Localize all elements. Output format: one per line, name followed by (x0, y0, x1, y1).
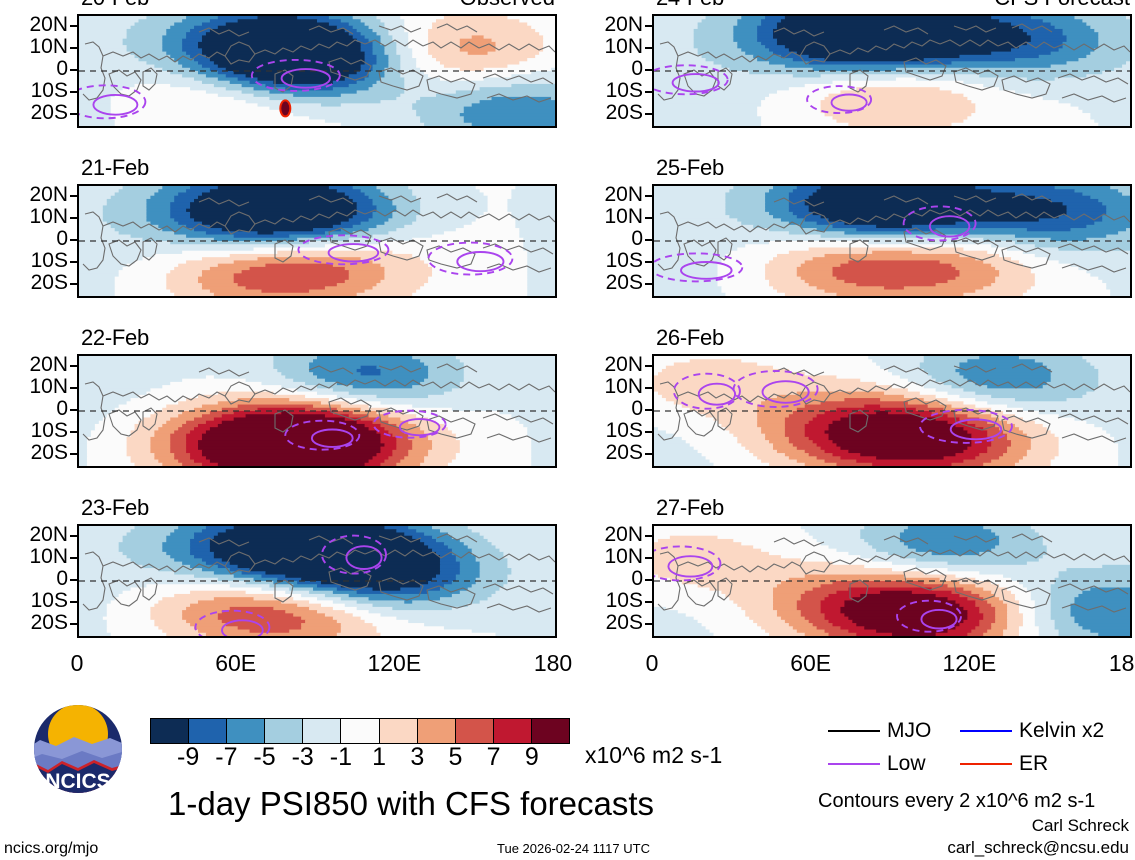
map-panel: 22-Feb (77, 354, 557, 468)
y-tick-label: 20N (604, 184, 643, 205)
legend-item: Low (828, 747, 948, 780)
colorbar-tick-label: -9 (177, 744, 199, 770)
contour-legend: MJOKelvin x2LowER (828, 714, 1128, 780)
legend-line-swatch (828, 730, 880, 732)
generation-timestamp: Tue 2026-02-24 1117 UTC (497, 841, 650, 856)
colorbar-swatch (418, 719, 456, 743)
y-tick-label: 10N (29, 376, 68, 397)
panel-column-forecast: 24-FebCFS Forecast20N10N010S20S25-Feb20N… (575, 0, 1135, 690)
y-tick-label: 0 (631, 58, 643, 79)
column-header: Observed (460, 0, 555, 9)
map-panel: 20-FebObserved (77, 14, 557, 128)
panel-plot-area (77, 14, 557, 128)
colorbar-ticklabels: -9-7-5-3-113579 (150, 744, 570, 770)
map-panel: 21-Feb (77, 184, 557, 298)
colorbar-swatch (532, 719, 569, 743)
y-tick-label: 0 (631, 228, 643, 249)
colorbar-swatch (265, 719, 303, 743)
website-label: ncics.org/mjo (4, 840, 98, 858)
y-tick-label: 0 (56, 398, 68, 419)
colorbar-tick-label: -3 (292, 744, 314, 770)
y-tick-label: 10S (31, 250, 68, 271)
legend-label: Kelvin x2 (1019, 720, 1104, 741)
y-tick-label: 20N (604, 14, 643, 35)
legend-item: ER (960, 747, 1080, 780)
x-tick-label: 120E (367, 650, 421, 676)
legend-line-swatch (828, 763, 880, 765)
y-tick-label: 20N (604, 354, 643, 375)
x-tick-label: 0 (71, 650, 84, 676)
colorbar-tick-label: -5 (253, 744, 275, 770)
y-tick-label: 10S (606, 590, 643, 611)
y-axis-labels: 20N10N010S20S (0, 524, 72, 634)
y-tick-label: 10S (31, 420, 68, 441)
colorbar-swatch (380, 719, 418, 743)
colorbar-swatch (189, 719, 227, 743)
colorbar-tick-label: 7 (487, 744, 501, 770)
panel-column-observed: 20-FebObserved20N10N010S20S21-Feb20N10N0… (0, 0, 560, 690)
y-tick-label: 10N (604, 546, 643, 567)
legend-line-swatch (960, 730, 1012, 732)
y-tick-label: 10S (606, 420, 643, 441)
y-tick-label: 20S (31, 102, 68, 123)
colorbar-tick-label: 3 (410, 744, 424, 770)
y-tick-label: 10S (31, 590, 68, 611)
contour-interval-note: Contours every 2 x10^6 m2 s-1 (818, 790, 1095, 813)
figure-title: 1-day PSI850 with CFS forecasts (168, 786, 654, 822)
colorbar-swatches (150, 718, 570, 744)
legend-item: MJO (828, 714, 948, 747)
panel-date-label: 26-Feb (656, 327, 724, 349)
y-tick-label: 20S (31, 612, 68, 633)
panel-grid: 20-FebObserved20N10N010S20S21-Feb20N10N0… (0, 0, 1135, 690)
legend-label: Low (887, 753, 926, 774)
y-tick-label: 10S (606, 250, 643, 271)
y-axis-labels: 20N10N010S20S (575, 184, 647, 294)
colorbar: -9-7-5-3-113579 (150, 718, 570, 770)
colorbar-swatch (341, 719, 379, 743)
x-axis-labels: 060E120E180 (652, 650, 1132, 678)
colorbar-swatch (456, 719, 494, 743)
panel-date-label: 20-Feb (81, 0, 149, 9)
panel-plot-area (652, 184, 1132, 298)
y-tick-label: 0 (56, 58, 68, 79)
colorbar-swatch (227, 719, 265, 743)
panel-date-label: 23-Feb (81, 497, 149, 519)
y-tick-label: 20N (604, 524, 643, 545)
colorbar-tick-label: 1 (372, 744, 386, 770)
logo-wordmark: NCICS (45, 770, 110, 793)
y-tick-label: 20S (31, 442, 68, 463)
y-tick-label: 20N (29, 524, 68, 545)
y-tick-label: 10N (604, 376, 643, 397)
y-tick-label: 20S (606, 442, 643, 463)
panel-date-label: 25-Feb (656, 157, 724, 179)
colorbar-swatch (494, 719, 532, 743)
author-email: carl_schreck@ncsu.edu (947, 838, 1129, 858)
column-header: CFS Forecast (994, 0, 1130, 9)
y-tick-label: 20S (606, 612, 643, 633)
map-panel: 26-Feb (652, 354, 1132, 468)
panel-plot-area (652, 524, 1132, 638)
x-tick-label: 60E (790, 650, 831, 676)
y-tick-label: 10N (29, 36, 68, 57)
y-tick-label: 0 (631, 568, 643, 589)
panel-date-label: 27-Feb (656, 497, 724, 519)
author-name: Carl Schreck (1032, 816, 1129, 836)
x-tick-label: 180 (534, 650, 572, 676)
y-tick-label: 20S (606, 272, 643, 293)
y-axis-labels: 20N10N010S20S (0, 354, 72, 464)
legend-line-swatch (960, 763, 1012, 765)
x-axis-labels: 060E120E180 (77, 650, 557, 678)
panel-date-label: 24-Feb (656, 0, 724, 9)
colorbar-tick-label: -7 (215, 744, 237, 770)
colorbar-tick-label: 9 (525, 744, 539, 770)
y-tick-label: 20N (29, 14, 68, 35)
y-tick-label: 10N (29, 206, 68, 227)
legend-item: Kelvin x2 (960, 714, 1080, 747)
colorbar-tick-label: -1 (330, 744, 352, 770)
panel-date-label: 21-Feb (81, 157, 149, 179)
y-axis-labels: 20N10N010S20S (575, 14, 647, 124)
y-tick-label: 0 (631, 398, 643, 419)
panel-plot-area (652, 14, 1132, 128)
x-tick-label: 60E (215, 650, 256, 676)
y-axis-labels: 20N10N010S20S (575, 524, 647, 634)
y-tick-label: 10S (606, 80, 643, 101)
x-tick-label: 120E (942, 650, 996, 676)
colorbar-swatch (151, 719, 189, 743)
legend-label: ER (1019, 753, 1048, 774)
map-panel: 23-Feb (77, 524, 557, 638)
x-tick-label: 180 (1109, 650, 1135, 676)
y-axis-labels: 20N10N010S20S (0, 14, 72, 124)
map-panel: 25-Feb (652, 184, 1132, 298)
panel-date-label: 22-Feb (81, 327, 149, 349)
y-axis-labels: 20N10N010S20S (0, 184, 72, 294)
colorbar-unit-label: x10^6 m2 s-1 (585, 742, 722, 769)
y-tick-label: 10N (604, 206, 643, 227)
y-tick-label: 20N (29, 184, 68, 205)
map-panel: 27-Feb (652, 524, 1132, 638)
panel-plot-area (77, 184, 557, 298)
colorbar-tick-label: 5 (449, 744, 463, 770)
y-tick-label: 0 (56, 228, 68, 249)
ncics-logo: NCICS (22, 704, 134, 794)
y-tick-label: 10N (604, 36, 643, 57)
y-tick-label: 20S (31, 272, 68, 293)
x-tick-label: 0 (646, 650, 659, 676)
y-axis-labels: 20N10N010S20S (575, 354, 647, 464)
panel-plot-area (77, 354, 557, 468)
panel-plot-area (77, 524, 557, 638)
legend-label: MJO (887, 720, 931, 741)
y-tick-label: 10N (29, 546, 68, 567)
panel-plot-area (652, 354, 1132, 468)
y-tick-label: 20S (606, 102, 643, 123)
y-tick-label: 10S (31, 80, 68, 101)
y-tick-label: 0 (56, 568, 68, 589)
colorbar-swatch (303, 719, 341, 743)
map-panel: 24-FebCFS Forecast (652, 14, 1132, 128)
y-tick-label: 20N (29, 354, 68, 375)
